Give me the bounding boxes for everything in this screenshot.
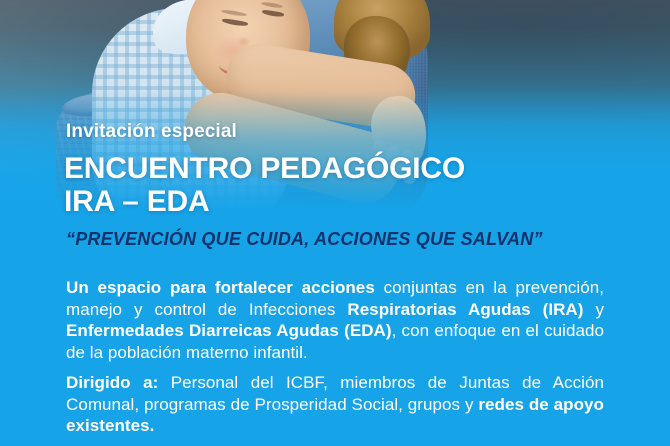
audience-paragraph: Dirigido a: Personal del ICBF, miembros …: [66, 372, 604, 437]
page-title: ENCUENTRO PEDAGÓGICO IRA – EDA: [64, 152, 465, 218]
poster-content: Invitación especial ENCUENTRO PEDAGÓGICO…: [66, 0, 604, 446]
invitation-poster: Invitación especial ENCUENTRO PEDAGÓGICO…: [0, 0, 670, 446]
description-paragraph: Un espacio para fortalecer acciones conj…: [66, 277, 604, 363]
kicker-label: Invitación especial: [66, 121, 237, 143]
tagline-quote: “PREVENCIÓN QUE CUIDA, ACCIONES QUE SALV…: [66, 229, 604, 250]
